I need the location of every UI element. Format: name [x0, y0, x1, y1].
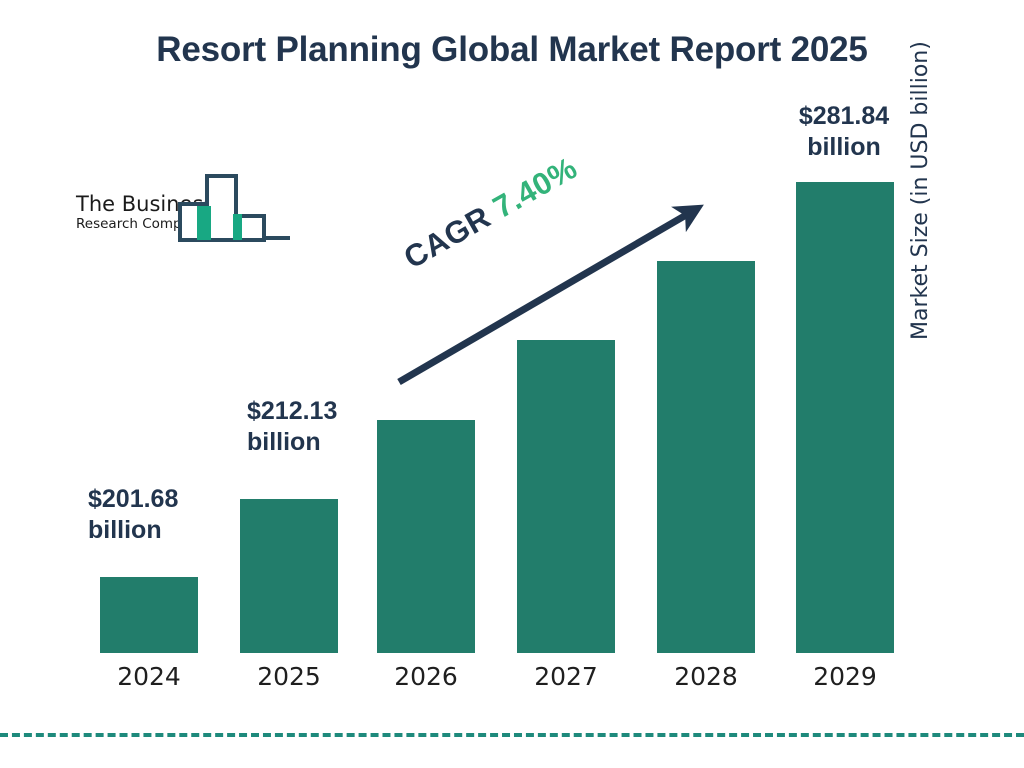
bottom-divider: [0, 733, 1024, 737]
growth-arrow-icon: [0, 0, 1024, 768]
y-axis-title: Market Size (in USD billion): [908, 0, 933, 340]
bar-chart: $201.68 billion $212.13 billion $281.84 …: [0, 0, 1024, 768]
